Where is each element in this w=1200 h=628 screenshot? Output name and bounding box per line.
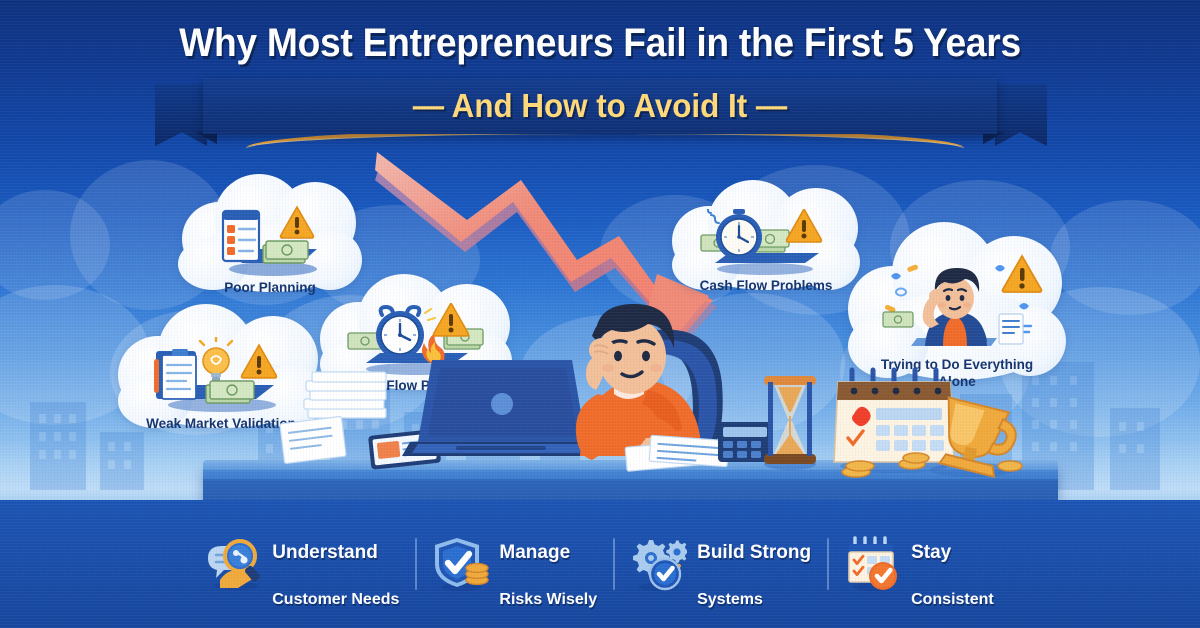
failure-label: Poor Planning (218, 279, 322, 296)
infographic-canvas: Why Most Entrepreneurs Fail in the First… (0, 0, 1200, 628)
solution-line-1: Understand (272, 542, 378, 563)
header-title-block: Why Most Entrepreneurs Fail in the First… (0, 20, 1200, 66)
solution-understand-customer-needs[interactable]: Understand Customer Needs (190, 518, 415, 611)
solution-line-2: Consistent (911, 591, 994, 608)
solution-label: Stay Consistent (911, 518, 994, 611)
solution-label: Build Strong Systems (697, 518, 811, 611)
solution-label: Manage Risks Wisely (499, 518, 597, 611)
solution-build-strong-systems[interactable]: Build Strong Systems (615, 518, 827, 611)
failure-label: Weak Market Validation (140, 415, 302, 432)
solution-label: Understand Customer Needs (272, 518, 399, 611)
entrepreneur-character (576, 304, 723, 460)
solutions-bar: Understand Customer Needs (0, 500, 1200, 628)
page-title: Why Most Entrepreneurs Fail in the First… (42, 20, 1158, 66)
subtitle-ribbon: — And How to Avoid It — (0, 76, 1200, 146)
solution-line-2: Systems (697, 591, 763, 608)
coins-icon (842, 461, 874, 477)
magnifier-speech-bubble-icon (206, 536, 262, 592)
solution-line-2: Risks Wisely (499, 591, 597, 608)
ribbon-tail-right (995, 84, 1047, 146)
solution-line-1: Manage (499, 542, 570, 563)
hourglass-icon (764, 376, 816, 470)
calculator-icon (718, 422, 772, 462)
solution-stay-consistent[interactable]: Stay Consistent (829, 518, 1010, 611)
solution-line-1: Build Strong (697, 542, 811, 563)
laptop-icon (402, 360, 602, 456)
ribbon-tail-left (155, 84, 207, 146)
calendar-check-icon (845, 536, 901, 592)
desk-calendar-icon (834, 370, 954, 473)
failure-bubble-cash-flow-right: Cash Flow Problems (672, 178, 860, 294)
solution-manage-risks-wisely[interactable]: Manage Risks Wisely (417, 518, 613, 611)
stopwatch-money-warning-icon (695, 209, 837, 275)
center-desk-scene (280, 300, 1040, 500)
page-subtitle: — And How to Avoid It — (223, 78, 977, 134)
solution-line-2: Customer Needs (272, 591, 399, 608)
failure-label: Cash Flow Problems (694, 277, 839, 294)
gears-check-icon (631, 536, 687, 592)
solution-line-1: Stay (911, 542, 951, 563)
shield-check-coins-icon (433, 536, 489, 592)
clipboard-lightbulb-money-warning-icon (146, 337, 296, 413)
clipboard-checklist-money-warning-icon (205, 205, 335, 277)
